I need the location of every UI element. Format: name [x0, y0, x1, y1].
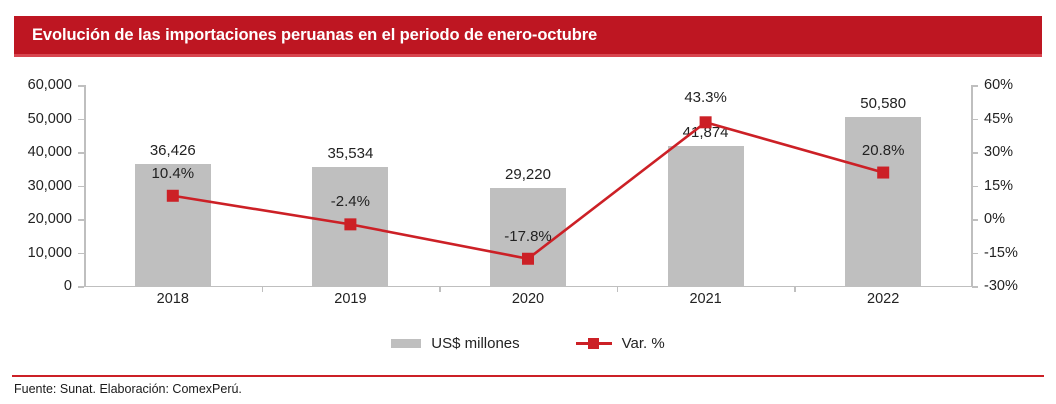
- variation-label-2022: 20.8%: [823, 143, 943, 158]
- source-note: Fuente: Sunat. Elaboración: ComexPerú.: [14, 383, 242, 396]
- line-marker-2020[interactable]: [522, 253, 534, 265]
- footer-divider: [12, 375, 1044, 377]
- variation-label-2020: -17.8%: [468, 229, 588, 244]
- legend-label-bar: US$ millones: [431, 336, 519, 351]
- line-marker-2018[interactable]: [167, 190, 179, 202]
- legend-item-line[interactable]: Var. %: [576, 336, 665, 351]
- variation-label-2018: 10.4%: [113, 166, 233, 181]
- legend-line-marker-icon: [576, 336, 612, 350]
- line-marker-2019[interactable]: [344, 218, 356, 230]
- variation-label-2019: -2.4%: [290, 194, 410, 209]
- variation-label-2021: 43.3%: [646, 90, 766, 105]
- line-marker-2022[interactable]: [877, 167, 889, 179]
- line-marker-2021[interactable]: [700, 116, 712, 128]
- legend-bar-swatch-icon: [391, 339, 421, 348]
- chart-legend: US$ millones Var. %: [0, 330, 1056, 356]
- chart-figure: Evolución de las importaciones peruanas …: [0, 0, 1056, 404]
- legend-label-line: Var. %: [622, 336, 665, 351]
- legend-item-bar[interactable]: US$ millones: [391, 336, 519, 351]
